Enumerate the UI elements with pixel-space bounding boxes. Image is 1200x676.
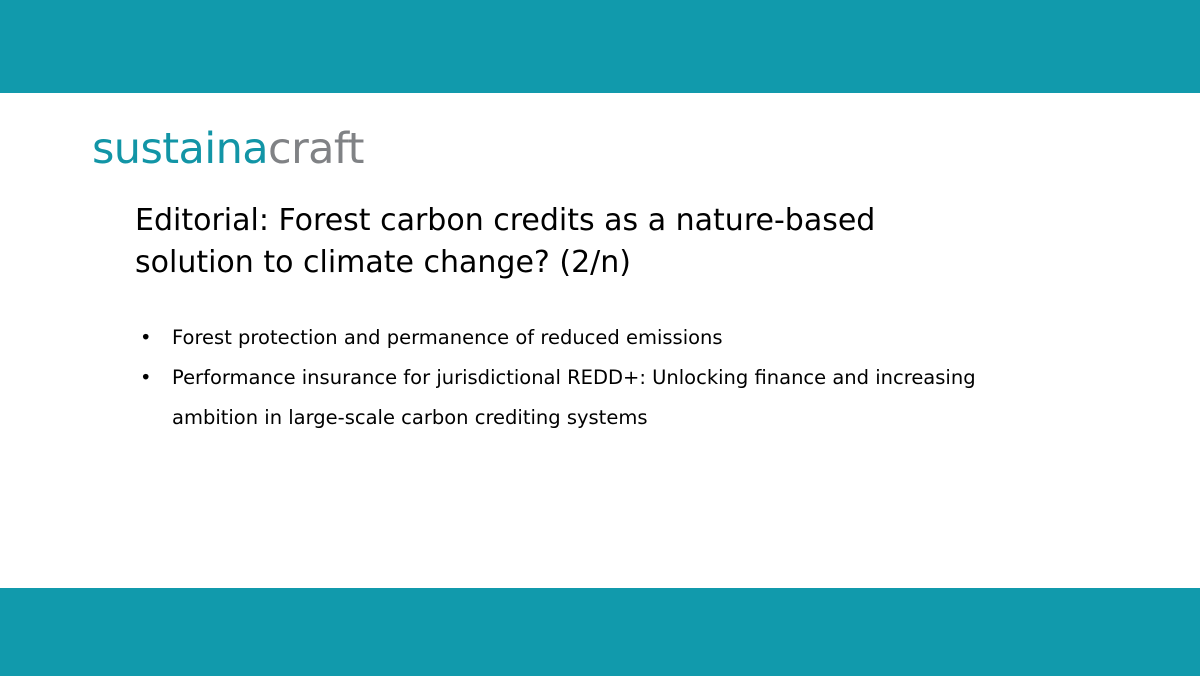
bullet-list: • Forest protection and permanence of re… (135, 318, 995, 438)
top-banner (0, 0, 1200, 93)
slide-canvas: sustainacraft Editorial: Forest carbon c… (0, 0, 1200, 676)
bullet-dot-icon: • (140, 358, 152, 398)
list-item: • Forest protection and permanence of re… (135, 318, 995, 358)
bullet-dot-icon: • (140, 318, 152, 358)
list-item: • Performance insurance for jurisdiction… (135, 358, 995, 438)
bullet-text: Performance insurance for jurisdictional… (172, 358, 995, 438)
logo-text-secondary: craft (268, 124, 364, 174)
bottom-banner (0, 588, 1200, 676)
bullet-text: Forest protection and permanence of redu… (172, 318, 995, 358)
slide-title: Editorial: Forest carbon credits as a na… (135, 200, 975, 284)
logo-text-primary: sustaina (92, 124, 268, 174)
sustainacraft-logo: sustainacraft (92, 126, 364, 172)
